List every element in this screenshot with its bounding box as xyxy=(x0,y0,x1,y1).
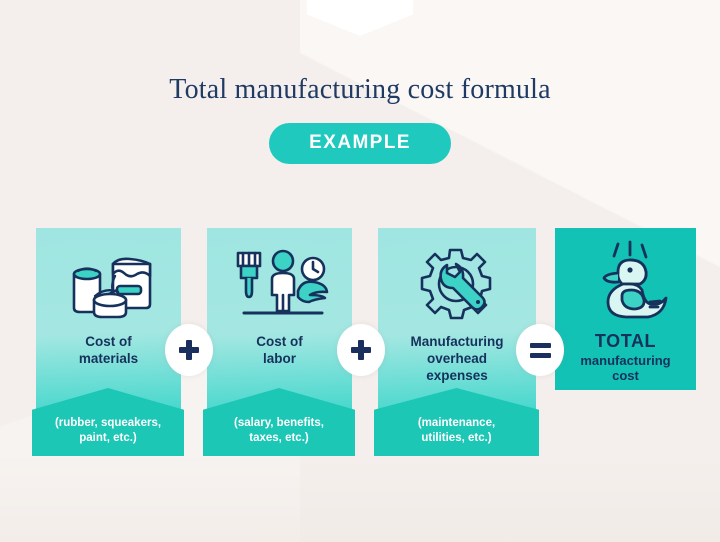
plus-operator-2 xyxy=(337,324,385,376)
term-note-banner-labor: (salary, benefits, taxes, etc.) xyxy=(203,388,355,456)
plus-icon xyxy=(179,340,199,360)
result-label-total: TOTAL xyxy=(595,332,656,352)
term-note-line1: (rubber, squeakers, xyxy=(55,416,161,432)
term-note-line2: paint, etc.) xyxy=(55,431,161,447)
plus-icon xyxy=(351,340,371,360)
term-note-line2: taxes, etc.) xyxy=(234,431,324,447)
gear-wrench-icon xyxy=(414,242,500,328)
term-label-line1: Manufacturing xyxy=(411,334,504,351)
result-card-total-manufacturing-cost: TOTAL manufacturing cost xyxy=(555,228,696,390)
term-label-line2: overhead xyxy=(411,351,504,368)
equals-icon xyxy=(530,343,551,358)
paint-cans-icon xyxy=(60,242,158,328)
term-label-line1: Cost of xyxy=(79,334,138,351)
term-label-line3: expenses xyxy=(411,368,504,385)
rubber-duck-icon xyxy=(578,238,674,330)
page-title: Total manufacturing cost formula xyxy=(0,74,720,106)
labor-worker-icon xyxy=(230,242,330,328)
term-label: Cost of materials xyxy=(73,334,144,368)
term-label: Cost of labor xyxy=(250,334,309,368)
result-label-sub-line2: cost xyxy=(580,368,670,384)
term-note-banner-materials: (rubber, squeakers, paint, etc.) xyxy=(32,388,184,456)
plus-operator-1 xyxy=(165,324,213,376)
term-note-line1: (salary, benefits, xyxy=(234,416,324,432)
term-label: Manufacturing overhead expenses xyxy=(405,334,510,385)
example-badge: EXAMPLE xyxy=(269,123,451,164)
equals-operator xyxy=(516,324,564,376)
term-note-line1: (maintenance, xyxy=(418,416,495,432)
formula-row: Cost of materials (rubber, squeakers, pa… xyxy=(0,228,720,478)
term-label-line2: materials xyxy=(79,351,138,368)
term-label-line2: labor xyxy=(256,351,303,368)
header: Total manufacturing cost formula EXAMPLE xyxy=(0,74,720,164)
result-label-sub: manufacturing cost xyxy=(580,353,670,384)
top-chevron-notch xyxy=(307,0,413,36)
result-label-sub-line1: manufacturing xyxy=(580,353,670,369)
term-note-line2: utilities, etc.) xyxy=(418,431,495,447)
term-note-banner-overhead: (maintenance, utilities, etc.) xyxy=(374,388,539,456)
term-label-line1: Cost of xyxy=(256,334,303,351)
